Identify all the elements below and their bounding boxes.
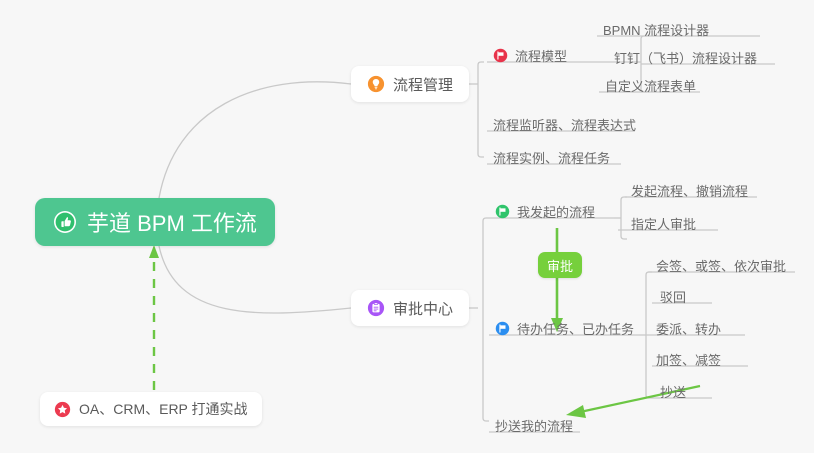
node-approval-center[interactable]: 审批中心 xyxy=(351,290,469,326)
node-reject[interactable]: 驳回 xyxy=(656,282,688,310)
node-label: 流程模型 xyxy=(515,46,567,65)
node-custom-process-form[interactable]: 自定义流程表单 xyxy=(601,71,698,99)
node-process-model[interactable]: 流程模型 xyxy=(489,41,569,69)
root-node[interactable]: 芋道 BPM 工作流 xyxy=(35,198,275,246)
node-process-instance-task[interactable]: 流程实例、流程任务 xyxy=(489,143,612,171)
node-label: 指定人审批 xyxy=(631,214,696,233)
node-label: 我发起的流程 xyxy=(517,202,595,221)
node-process-management[interactable]: 流程管理 xyxy=(351,66,469,102)
node-dingtalk-feishu-designer[interactable]: 钉钉（飞书）流程设计器 xyxy=(610,43,759,71)
node-cc-to-me-process[interactable]: 抄送我的流程 xyxy=(491,411,575,439)
node-label: 会签、或签、依次审批 xyxy=(656,256,786,275)
approval-badge-label: 审批 xyxy=(547,256,573,275)
node-countersign-orsign-sequential[interactable]: 会签、或签、依次审批 xyxy=(652,251,788,279)
arrow-bottom-to-root xyxy=(149,245,159,390)
node-label: 流程管理 xyxy=(393,74,453,95)
clipboard-icon xyxy=(367,299,385,317)
node-label: 驳回 xyxy=(660,287,686,306)
wire-pm-spine xyxy=(478,62,484,157)
node-label: BPMN 流程设计器 xyxy=(603,20,709,39)
node-todo-done-tasks[interactable]: 待办任务、已办任务 xyxy=(491,314,636,342)
flag-icon-green xyxy=(495,204,510,219)
node-label: 委派、转办 xyxy=(656,319,721,338)
node-start-cancel-process[interactable]: 发起流程、撤销流程 xyxy=(627,176,750,204)
node-my-initiated-process[interactable]: 我发起的流程 xyxy=(491,197,597,225)
node-add-remove-sign[interactable]: 加签、减签 xyxy=(652,345,723,373)
lightbulb-icon xyxy=(367,75,385,93)
node-label: 发起流程、撤销流程 xyxy=(631,181,748,200)
mindmap-canvas: 芋道 BPM 工作流 流程管理 流程模型 BPMN 流程设计器 钉钉（飞书）流程 xyxy=(0,0,814,453)
flag-icon-red xyxy=(493,48,508,63)
node-label: OA、CRM、ERP 打通实战 xyxy=(79,399,248,419)
root-label: 芋道 BPM 工作流 xyxy=(87,206,257,238)
node-label: 钉钉（飞书）流程设计器 xyxy=(614,48,757,67)
wire-root-to-process-management xyxy=(159,82,351,198)
wire-ac-spine xyxy=(483,218,489,421)
wire-root-to-approval-center xyxy=(159,246,351,313)
node-label: 抄送 xyxy=(660,382,686,401)
node-label: 流程实例、流程任务 xyxy=(493,148,610,167)
node-label: 流程监听器、流程表达式 xyxy=(493,115,636,134)
star-icon xyxy=(54,401,71,418)
node-oa-crm-erp[interactable]: OA、CRM、ERP 打通实战 xyxy=(40,392,262,426)
node-label: 加签、减签 xyxy=(656,350,721,369)
node-label: 抄送我的流程 xyxy=(495,416,573,435)
node-label: 自定义流程表单 xyxy=(605,76,696,95)
approval-badge: 审批 xyxy=(538,252,582,278)
node-assignee-approval[interactable]: 指定人审批 xyxy=(627,209,698,237)
node-cc[interactable]: 抄送 xyxy=(656,377,688,405)
node-label: 待办任务、已办任务 xyxy=(517,319,634,338)
node-bpmn-designer[interactable]: BPMN 流程设计器 xyxy=(599,15,711,43)
flag-icon-blue xyxy=(495,321,510,336)
node-delegate-transfer[interactable]: 委派、转办 xyxy=(652,314,723,342)
node-process-listener-expression[interactable]: 流程监听器、流程表达式 xyxy=(489,110,638,138)
thumbs-up-icon xyxy=(53,210,77,234)
node-label: 审批中心 xyxy=(393,298,453,319)
